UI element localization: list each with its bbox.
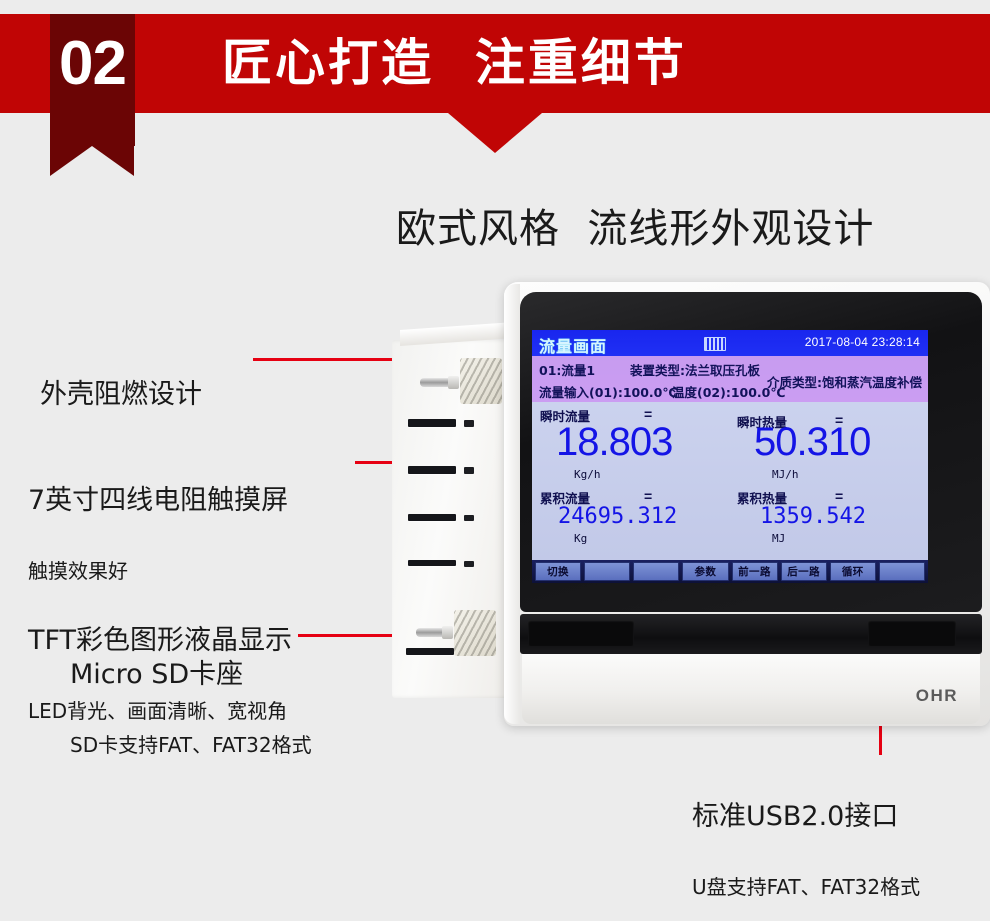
lcd-button-blank-2[interactable]	[633, 562, 679, 581]
lcd-button-bar: 切换 参数 前一路 后一路 循环	[532, 560, 928, 583]
terminal-screw-head-top	[448, 376, 459, 389]
lcd-screen-title: 流量画面	[539, 333, 607, 357]
readout-unit-instant-heat: MJ/h	[772, 468, 799, 481]
device-bottom-panel: OHR	[522, 654, 980, 724]
readout-value-total-heat: 1359.542	[760, 504, 866, 529]
annotation-usb: 标准USB2.0接口 U盘支持FAT、FAT32格式	[692, 762, 920, 921]
lcd-button-prev-ch[interactable]: 前一路	[732, 562, 778, 581]
annotation-case-flame-retardant: 外壳阻燃设计	[40, 340, 202, 431]
vent-slot	[406, 648, 454, 655]
annotation-touchscreen-line1: 7英寸四线电阻触摸屏	[28, 484, 292, 518]
vent-slot	[464, 420, 474, 427]
annotation-case-title: 外壳阻燃设计	[40, 378, 202, 412]
vent-slot	[408, 466, 456, 474]
battery-icon	[704, 337, 726, 351]
readout-unit-total-heat: MJ	[772, 532, 785, 545]
banner-title: 匠心打造 注重细节	[222, 28, 687, 98]
micro-sd-card-slot[interactable]	[528, 620, 634, 646]
param-medium-type: 介质类型:饱和蒸汽温度补偿	[767, 372, 922, 391]
lcd-button-switch[interactable]: 切换	[535, 562, 581, 581]
annotation-micro-sd-desc: SD卡支持FAT、FAT32格式	[70, 730, 312, 760]
readout-eq-total-flow: =	[644, 488, 652, 504]
section-number-ribbon-tail	[50, 146, 134, 176]
readout-value-total-flow: 24695.312	[558, 504, 677, 529]
lcd-button-params[interactable]: 参数	[682, 562, 728, 581]
param-flow-input: 流量输入(01):100.0℃	[539, 382, 678, 401]
usb-port[interactable]	[868, 620, 956, 646]
device-illustration: 流量画面 2017-08-04 23:28:14 01:流量1 装置类型:法兰取…	[392, 282, 990, 726]
vent-slot	[464, 467, 474, 474]
terminal-screw-head-bottom	[442, 626, 453, 639]
device-front-left-edge	[504, 284, 520, 724]
vent-slot	[464, 561, 474, 567]
annotation-usb-desc: U盘支持FAT、FAT32格式	[692, 872, 920, 902]
vent-slot	[408, 560, 456, 566]
annotation-usb-title: 标准USB2.0接口	[692, 800, 920, 834]
lcd-title-bar: 流量画面 2017-08-04 23:28:14	[532, 330, 928, 356]
annotation-touchscreen-line2: 触摸效果好	[28, 556, 292, 586]
readout-value-instant-flow: 18.803	[556, 420, 672, 465]
section-number: 02	[50, 30, 135, 98]
lcd-button-blank-1[interactable]	[584, 562, 630, 581]
param-channel: 01:流量1	[539, 360, 595, 379]
brand-logo: OHR	[916, 686, 958, 706]
vent-slot	[408, 514, 456, 521]
annotation-micro-sd-title: Micro SD卡座	[70, 658, 312, 692]
header-banner-notch	[448, 113, 542, 153]
lcd-button-cycle[interactable]: 循环	[830, 562, 876, 581]
mounting-bracket-top-ribs	[460, 358, 502, 404]
vent-slot	[408, 419, 456, 427]
vent-slot	[464, 515, 474, 521]
lcd-button-next-ch[interactable]: 后一路	[781, 562, 827, 581]
lcd-datetime: 2017-08-04 23:28:14	[805, 335, 920, 349]
param-temperature: 温度(02):100.0℃	[672, 382, 786, 401]
readout-unit-total-flow: Kg	[574, 532, 587, 545]
mounting-bracket-bottom-ribs	[454, 610, 496, 656]
annotation-micro-sd: Micro SD卡座 SD卡支持FAT、FAT32格式	[70, 620, 312, 779]
page-subtitle: 欧式风格 流线形外观设计	[396, 196, 874, 254]
lcd-parameter-bar: 01:流量1 装置类型:法兰取压孔板 介质类型:饱和蒸汽温度补偿 流量输入(01…	[532, 356, 928, 402]
lcd-screen[interactable]: 流量画面 2017-08-04 23:28:14 01:流量1 装置类型:法兰取…	[532, 330, 928, 583]
lcd-readout-area: 瞬时流量 = 18.803 Kg/h 瞬时热量 = 50.310 MJ/h 累积…	[532, 402, 928, 560]
lcd-button-blank-3[interactable]	[879, 562, 925, 581]
readout-eq-total-heat: =	[835, 488, 843, 504]
readout-unit-instant-flow: Kg/h	[574, 468, 601, 481]
param-device-type: 装置类型:法兰取压孔板	[630, 360, 760, 379]
device-port-strip	[520, 614, 982, 654]
readout-value-instant-heat: 50.310	[754, 420, 870, 465]
